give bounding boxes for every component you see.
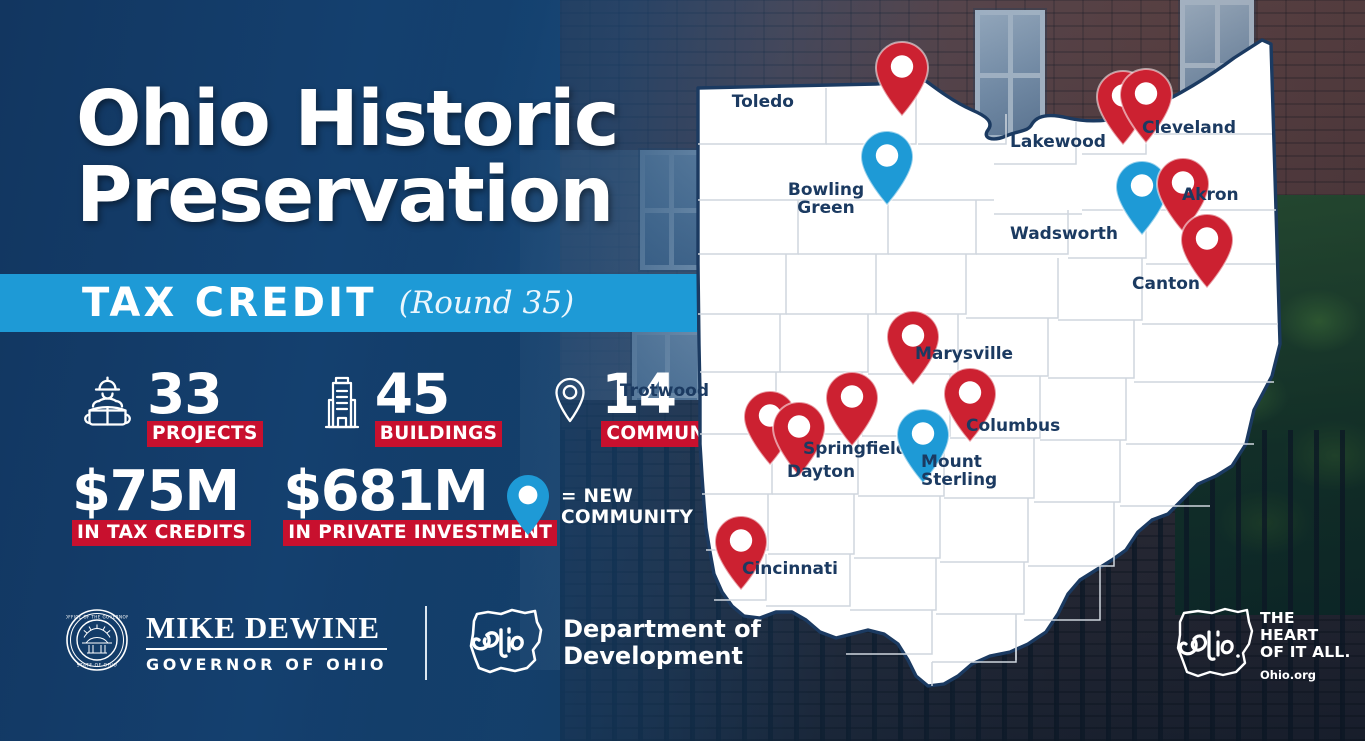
title-line-2: Preservation bbox=[76, 158, 716, 234]
map-pin-springfield[interactable] bbox=[824, 370, 880, 448]
map-label-canton: Canton bbox=[1132, 276, 1200, 294]
ohio-map-svg bbox=[676, 14, 1356, 729]
stat-buildings-label: BUILDINGS bbox=[375, 421, 503, 447]
map-pin-bowling-green[interactable] bbox=[859, 129, 915, 207]
legend-line-1: = NEW bbox=[561, 486, 633, 507]
page-title: Ohio Historic Preservation bbox=[76, 82, 716, 234]
map-pin-blue-icon bbox=[505, 473, 551, 542]
stat-buildings: 45 BUILDINGS bbox=[318, 370, 503, 447]
map-label-cleveland: Cleveland bbox=[1142, 120, 1236, 138]
stat-projects-values: 33 PROJECTS bbox=[147, 370, 263, 447]
stat-buildings-value: 45 bbox=[375, 370, 503, 418]
stat-projects-value: 33 bbox=[147, 370, 263, 418]
svg-text:STATE OF OHIO: STATE OF OHIO bbox=[77, 663, 118, 669]
governor-name: MIKE DEWINE bbox=[146, 612, 387, 643]
map-label-marysville: Marysville bbox=[915, 346, 1013, 364]
footer-logos: OFFICE OF THE GOVERNOR STATE OF OHIO MIK… bbox=[66, 602, 761, 683]
map-label-toledo: Toledo bbox=[732, 94, 794, 112]
legend-text: = NEW COMMUNITY bbox=[561, 487, 693, 528]
legend-line-2: COMMUNITY bbox=[561, 507, 693, 528]
governor-rule bbox=[146, 648, 387, 650]
map-label-part: Sterling bbox=[921, 470, 997, 490]
governor-seal-icon: OFFICE OF THE GOVERNOR STATE OF OHIO bbox=[66, 609, 128, 676]
map-label-part: Green bbox=[797, 198, 855, 218]
map-pin-cincinnati[interactable] bbox=[713, 514, 769, 592]
band-round: (Round 35) bbox=[399, 285, 574, 321]
map-label-trotwood: Trotwood bbox=[620, 383, 709, 401]
band-title: TAX CREDIT bbox=[82, 280, 377, 326]
stat-tax-credits-label: IN TAX CREDITS bbox=[72, 520, 251, 546]
building-icon bbox=[318, 372, 366, 439]
map-label-lakewood: Lakewood bbox=[1010, 134, 1106, 152]
governor-wordmark: MIKE DEWINE GOVERNOR OF OHIO bbox=[146, 612, 387, 674]
map-label-cincinnati: Cincinnati bbox=[742, 561, 838, 579]
map-label-wadsworth: Wadsworth bbox=[1010, 226, 1118, 244]
stat-tax-credits-value: $75M bbox=[72, 467, 251, 517]
map-label-columbus: Columbus bbox=[966, 418, 1060, 436]
map-label-mount-sterling: MountSterling bbox=[921, 454, 997, 490]
infographic-canvas: Ohio Historic Preservation TAX CREDIT (R… bbox=[0, 0, 1365, 741]
map-label-bowling-green: BowlingGreen bbox=[788, 182, 864, 218]
stats-row-financial: $75M IN TAX CREDITS $681M IN PRIVATE INV… bbox=[72, 467, 557, 546]
map-label-springfield: Springfield bbox=[803, 441, 908, 459]
construction-worker-icon bbox=[76, 372, 138, 439]
map-pin-outline-icon bbox=[548, 372, 592, 439]
stat-buildings-values: 45 BUILDINGS bbox=[375, 370, 503, 447]
ohio-map: ToledoBowlingGreenLakewoodClevelandWadsw… bbox=[676, 14, 1356, 729]
map-legend: = NEW COMMUNITY bbox=[505, 473, 693, 542]
svg-text:OFFICE OF THE GOVERNOR: OFFICE OF THE GOVERNOR bbox=[66, 615, 128, 620]
stat-tax-credits: $75M IN TAX CREDITS bbox=[72, 467, 251, 546]
governor-title: GOVERNOR OF OHIO bbox=[146, 655, 387, 674]
stat-projects: 33 PROJECTS bbox=[76, 370, 263, 447]
map-label-akron: Akron bbox=[1182, 187, 1239, 205]
footer-divider bbox=[425, 606, 427, 680]
stat-projects-label: PROJECTS bbox=[147, 421, 263, 447]
tax-credit-band: TAX CREDIT (Round 35) bbox=[0, 274, 697, 332]
ohio-script-outline-icon bbox=[457, 602, 549, 683]
map-label-dayton: Dayton bbox=[787, 464, 855, 482]
map-pin-toledo[interactable] bbox=[874, 40, 930, 118]
